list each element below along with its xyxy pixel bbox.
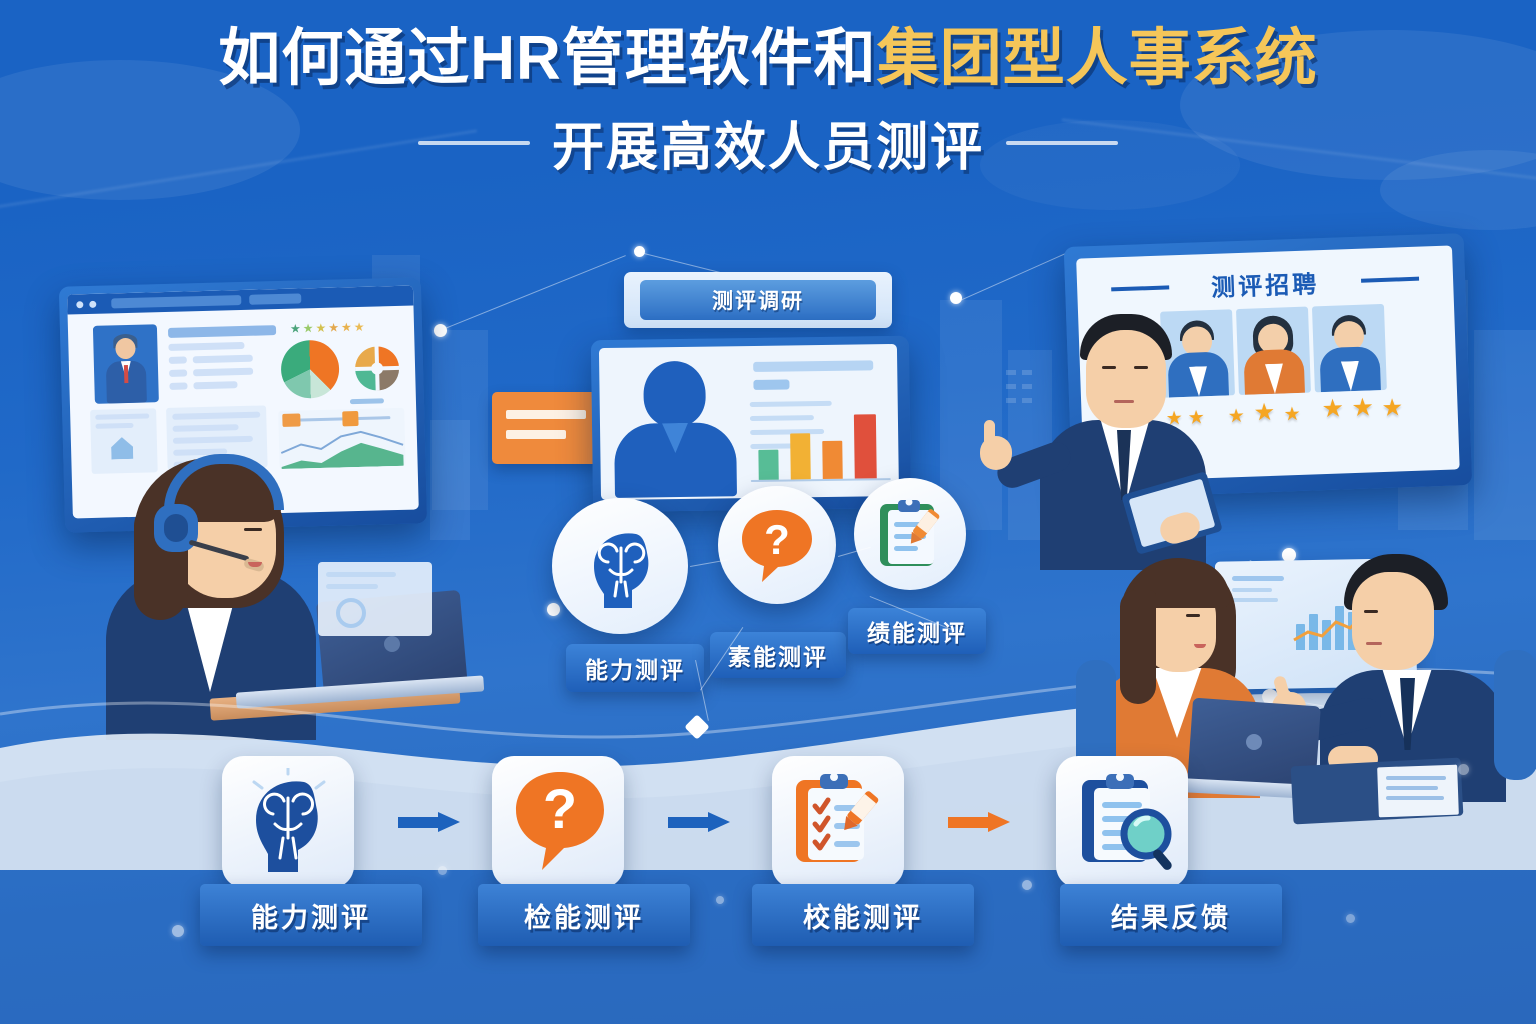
woman-eye bbox=[1186, 614, 1200, 617]
star-icon: ★ bbox=[1351, 392, 1374, 423]
network-line bbox=[440, 255, 626, 331]
star-icon: ★ bbox=[1227, 405, 1245, 429]
bokeh-dot bbox=[438, 866, 447, 875]
presenter-finger bbox=[984, 420, 995, 446]
brain-head-icon bbox=[236, 768, 340, 872]
arrow-stem bbox=[948, 817, 990, 828]
profile-line bbox=[750, 429, 824, 435]
score-bar bbox=[790, 433, 811, 479]
svg-text:?: ? bbox=[543, 777, 577, 840]
flow-arrow-2 bbox=[668, 812, 730, 832]
clipboard-pencil-icon bbox=[870, 494, 950, 574]
presenter-face bbox=[1086, 330, 1166, 428]
presenter-mouth bbox=[1114, 400, 1134, 403]
presenter-eye bbox=[1102, 366, 1116, 369]
notebook-page bbox=[1377, 765, 1459, 818]
checklist-pencil-icon bbox=[786, 768, 890, 872]
center-pill-inner: 测评调研 bbox=[640, 280, 876, 320]
profile-line bbox=[193, 355, 253, 364]
subtitle-dash-right bbox=[1006, 141, 1118, 145]
flow-step-card-1[interactable] bbox=[222, 756, 354, 888]
browser-tab[interactable] bbox=[249, 293, 301, 304]
slider-track bbox=[286, 416, 390, 422]
network-line bbox=[960, 247, 1079, 301]
score-bar bbox=[854, 414, 877, 478]
star-icon: ★ bbox=[1321, 393, 1344, 424]
bg-building bbox=[1474, 330, 1536, 540]
aux-line bbox=[326, 572, 396, 577]
avatar-tie bbox=[124, 365, 128, 383]
screen-content bbox=[599, 344, 899, 500]
info-card-line bbox=[95, 423, 133, 429]
candidate-card[interactable] bbox=[1236, 307, 1311, 395]
aux-donut-icon bbox=[336, 598, 366, 628]
bokeh-dot bbox=[1346, 914, 1355, 923]
bokeh-dot bbox=[716, 896, 724, 904]
star-icon: ★ bbox=[1253, 398, 1276, 428]
score-bar bbox=[822, 441, 843, 479]
title-white-part: 如何通过HR管理软件和 bbox=[218, 24, 877, 93]
shared-laptop-logo-icon bbox=[1246, 734, 1262, 750]
star-icon: ★ bbox=[1381, 393, 1404, 423]
star-icon: ★ bbox=[1283, 403, 1301, 427]
woman-hair-side bbox=[1120, 590, 1156, 704]
badge-ability[interactable] bbox=[552, 498, 688, 634]
svg-text:?: ? bbox=[764, 516, 790, 563]
arrow-stem bbox=[668, 817, 710, 828]
chair-right bbox=[1494, 650, 1536, 780]
aux-line bbox=[326, 584, 378, 589]
flow-label-text: 能力测评 bbox=[251, 896, 371, 935]
poster-header: 如何通过HR管理软件和集团型人事系统 开展高效人员测评 bbox=[0, 26, 1536, 180]
agent-eye bbox=[244, 528, 262, 531]
flow-arrow-3 bbox=[948, 812, 1010, 832]
presenter-eye bbox=[1134, 366, 1148, 369]
bokeh-dot bbox=[172, 925, 184, 937]
notebook-line bbox=[1386, 796, 1444, 800]
profile-line bbox=[750, 415, 814, 421]
flow-step-card-3[interactable] bbox=[772, 756, 904, 888]
avatar-card bbox=[93, 324, 159, 404]
flow-label-1: 能力测评 bbox=[200, 884, 422, 946]
person-silhouette-head bbox=[643, 361, 706, 428]
network-node bbox=[547, 603, 560, 616]
flow-label-text: 校能测评 bbox=[803, 896, 923, 935]
flow-step-card-4[interactable] bbox=[1056, 756, 1188, 888]
page-subtitle: 开展高效人员测评 bbox=[552, 105, 984, 180]
chart-legend-chip bbox=[350, 398, 384, 404]
network-node bbox=[634, 246, 645, 257]
wall-screen-line bbox=[1232, 588, 1272, 592]
badge-performance[interactable] bbox=[854, 478, 966, 590]
arrow-head bbox=[438, 812, 460, 832]
profile-line bbox=[169, 382, 187, 389]
wall-screen-line bbox=[1232, 576, 1284, 581]
notebook-line bbox=[1386, 786, 1438, 790]
left-pie-chart bbox=[280, 339, 339, 398]
headphone-earcup-inner bbox=[164, 514, 188, 542]
avatar-head bbox=[115, 338, 136, 360]
subtitle-dash-left bbox=[418, 141, 530, 145]
center-pill-label: 测评调研 bbox=[712, 285, 804, 315]
profile-chip bbox=[753, 379, 789, 390]
note-line bbox=[506, 410, 586, 419]
profile-line bbox=[193, 368, 253, 377]
flow-label-2: 检能测评 bbox=[478, 884, 690, 946]
flow-arrow-1 bbox=[398, 812, 460, 832]
flow-label-3: 校能测评 bbox=[752, 884, 974, 946]
presenter-illustration bbox=[1010, 300, 1230, 560]
bokeh-dot bbox=[1022, 880, 1032, 890]
flow-label-text: 结果反馈 bbox=[1111, 896, 1231, 935]
badge-survey[interactable]: ? bbox=[718, 486, 836, 604]
poster-canvas: 如何通过HR管理软件和集团型人事系统 开展高效人员测评 bbox=[0, 0, 1536, 1024]
report-search-icon bbox=[1070, 768, 1176, 874]
wall-screen-line bbox=[1232, 598, 1278, 602]
arrow-head bbox=[708, 812, 730, 832]
arrow-stem bbox=[398, 817, 440, 828]
arrow-head bbox=[988, 812, 1010, 832]
flow-label-4: 结果反馈 bbox=[1060, 884, 1282, 946]
title-gold-part: 集团型人事系统 bbox=[877, 24, 1318, 93]
profile-header-line bbox=[753, 360, 873, 372]
profile-line bbox=[169, 369, 187, 376]
profile-line bbox=[168, 342, 244, 351]
man-face bbox=[1352, 572, 1434, 670]
man-mouth bbox=[1366, 642, 1382, 645]
man-eye bbox=[1364, 610, 1378, 613]
slider-handle-left[interactable] bbox=[282, 414, 300, 427]
score-bar bbox=[758, 450, 778, 480]
page-title: 如何通过HR管理软件和集团型人事系统 bbox=[0, 26, 1536, 91]
candidate-card[interactable] bbox=[1312, 304, 1387, 392]
notebook-line bbox=[1386, 776, 1446, 780]
center-pill-header[interactable]: 测评调研 bbox=[624, 272, 892, 328]
flow-label-text: 检能测评 bbox=[524, 896, 644, 935]
network-node bbox=[434, 324, 447, 337]
question-bubble-icon: ? bbox=[734, 502, 820, 588]
brain-head-icon bbox=[574, 520, 666, 612]
orange-note-card bbox=[492, 392, 600, 464]
rating-stars: ★★★★★★ bbox=[290, 320, 367, 336]
candidate-profile-screen[interactable] bbox=[591, 336, 911, 512]
profile-name-line bbox=[168, 325, 276, 338]
profile-line bbox=[169, 356, 187, 363]
profile-line bbox=[193, 381, 237, 389]
profile-line bbox=[750, 401, 832, 407]
question-bubble-icon: ? bbox=[506, 766, 614, 874]
flow-step-card-2[interactable]: ? bbox=[492, 756, 624, 888]
network-node bbox=[950, 292, 962, 304]
note-line bbox=[506, 430, 566, 439]
bokeh-dot bbox=[1458, 764, 1469, 775]
